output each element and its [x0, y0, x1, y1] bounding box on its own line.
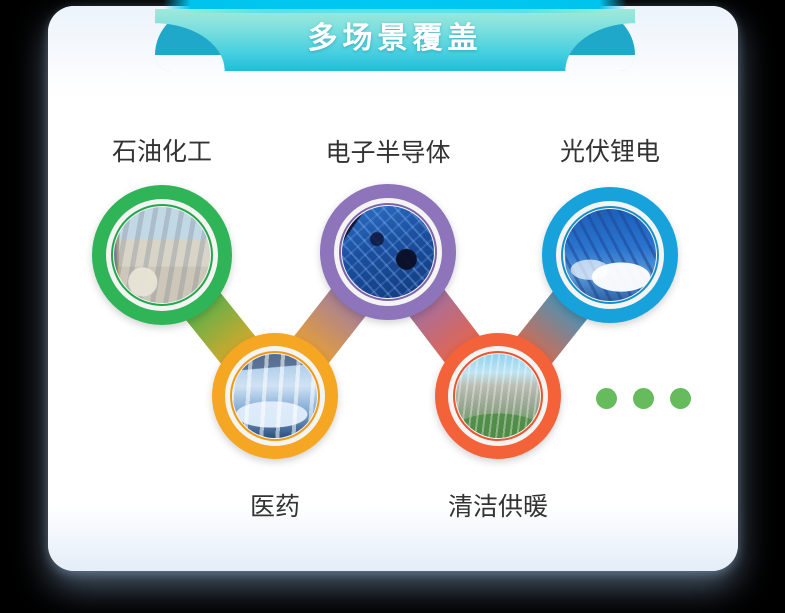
scenario-label-petrochemical: 石油化工: [112, 132, 212, 168]
circuit-board-photo: [342, 206, 434, 298]
banner-accent-line: [163, 0, 627, 9]
scenario-label-clean-heating: 清洁供暖: [448, 487, 548, 523]
scenario-node-petrochemical[interactable]: [92, 185, 232, 325]
banner: 多场景覆盖: [155, 0, 635, 78]
more-dots: [596, 388, 692, 410]
pharma-lab-photo: [233, 354, 317, 438]
scenario-node-clean-heating[interactable]: [435, 333, 561, 459]
screenshot-root: 多场景覆盖 石油化工电子半导体光伏锂电医药清洁供暖: [0, 0, 785, 613]
scenario-node-electronics-semiconductor[interactable]: [320, 184, 456, 320]
city-aerial-photo: [456, 354, 540, 438]
more-dot-3: [670, 388, 691, 409]
banner-title: 多场景覆盖: [155, 13, 635, 57]
scenario-node-photovoltaic-lithium[interactable]: [542, 187, 678, 323]
petrochemical-plant-photo: [114, 207, 210, 303]
wind-turbine-solar-photo: [564, 209, 656, 301]
scenario-label-photovoltaic-lithium: 光伏锂电: [560, 132, 660, 168]
more-dot-2: [633, 388, 654, 409]
more-dot-1: [596, 388, 617, 409]
scenario-label-pharmaceutical: 医药: [250, 487, 300, 523]
scenario-label-electronics-semiconductor: 电子半导体: [326, 133, 451, 169]
scenario-node-pharmaceutical[interactable]: [212, 333, 338, 459]
